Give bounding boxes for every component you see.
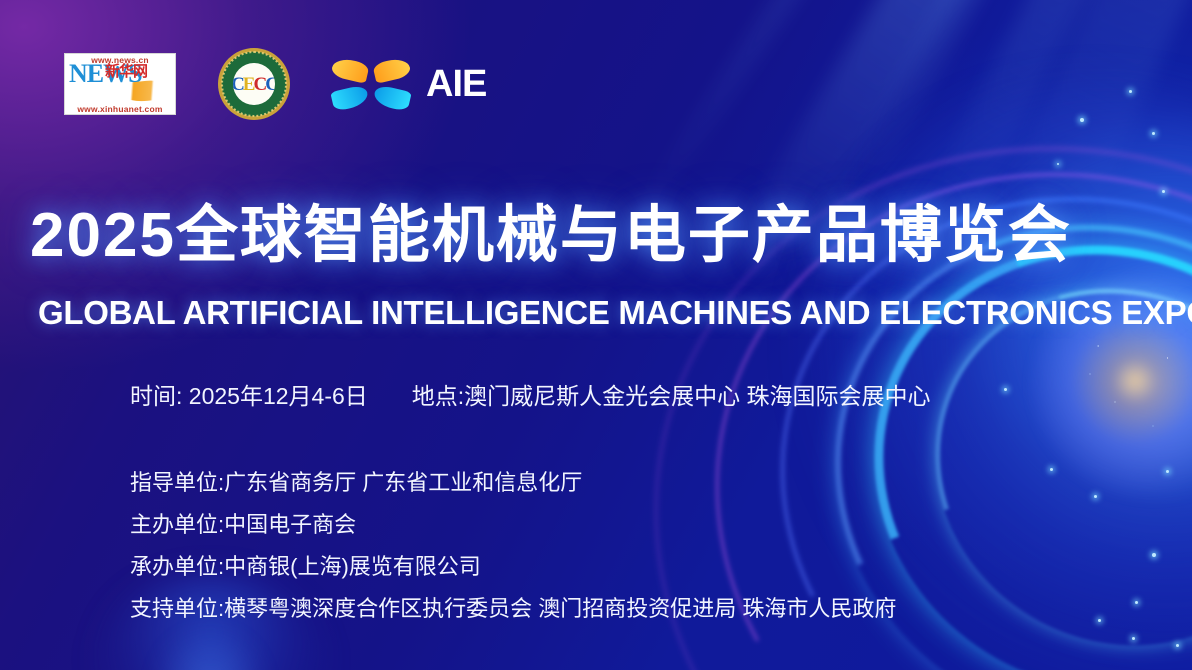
light-beam-icon	[624, 0, 978, 230]
sparkle-icon	[1135, 601, 1138, 604]
aie-wing-bottom-left	[330, 84, 370, 112]
sparkle-icon	[1166, 470, 1169, 473]
org-line-host: 主办单位:中国电子商会	[130, 509, 896, 540]
light-beam-icon	[830, 0, 1108, 219]
sparkle-icon	[1080, 118, 1084, 122]
event-time: 时间: 2025年12月4-6日	[130, 380, 368, 412]
page-title-chinese: 2025全球智能机械与电子产品博览会	[30, 199, 1170, 273]
org-line-guidance: 指导单位:广东省商务厅 广东省工业和信息化厅	[130, 467, 896, 498]
aie-butterfly-icon	[332, 56, 410, 112]
sponsor-logo-row: www.news.cn NEWS 新华网 www.xinhuanet.com C…	[64, 48, 486, 120]
xinhua-url-bottom: www.xinhuanet.com	[65, 103, 175, 114]
page-title-english: GLOBAL ARTIFICIAL INTELLIGENCE MACHINES …	[38, 293, 1178, 333]
sparkle-icon	[1132, 637, 1135, 640]
sparkle-icon	[1098, 619, 1101, 622]
aie-wing-top-right	[372, 56, 412, 84]
sparkle-icon	[1129, 90, 1132, 93]
sparkle-icon	[1162, 190, 1165, 193]
organization-list: 指导单位:广东省商务厅 广东省工业和信息化厅 主办单位:中国电子商会 承办单位:…	[130, 467, 896, 624]
org-line-supporters: 支持单位:横琴粤澳深度合作区执行委员会 澳门招商投资促进局 珠海市人民政府	[130, 593, 896, 624]
aie-logo[interactable]: AIE	[332, 56, 486, 112]
cecc-letters: CECC	[233, 75, 275, 94]
aie-wordmark: AIE	[426, 63, 486, 106]
sparkle-icon	[1176, 644, 1179, 647]
cecc-logo-inner: CECC	[233, 63, 275, 105]
xinhua-swoosh-icon	[116, 78, 174, 104]
xinhua-news-logo[interactable]: www.news.cn NEWS 新华网 www.xinhuanet.com	[64, 53, 176, 115]
aie-wing-bottom-right	[372, 84, 412, 112]
event-meta-row: 时间: 2025年12月4-6日 地点:澳门威尼斯人金光会展中心 珠海国际会展中…	[130, 380, 931, 412]
xinhua-chinese-text: 新华网	[105, 64, 171, 79]
sparkle-icon	[1004, 388, 1007, 391]
sparkle-icon	[1094, 495, 1097, 498]
xinhua-mark: NEWS 新华网	[65, 65, 175, 103]
sparkle-icon	[1152, 132, 1155, 135]
sparkle-icon	[1050, 468, 1053, 471]
org-line-organizer: 承办单位:中商银(上海)展览有限公司	[130, 551, 896, 582]
expo-poster: www.news.cn NEWS 新华网 www.xinhuanet.com C…	[0, 0, 1192, 670]
cecc-logo[interactable]: CECC	[218, 48, 290, 120]
event-venue: 地点:澳门威尼斯人金光会展中心 珠海国际会展中心	[412, 380, 931, 412]
orbit-ring-cyan-inner	[872, 223, 1192, 670]
sparkle-icon	[1152, 553, 1156, 557]
aie-wing-top-left	[330, 56, 370, 84]
bottom-left-glow-inner	[150, 630, 270, 670]
sparkle-icon	[1057, 163, 1059, 165]
